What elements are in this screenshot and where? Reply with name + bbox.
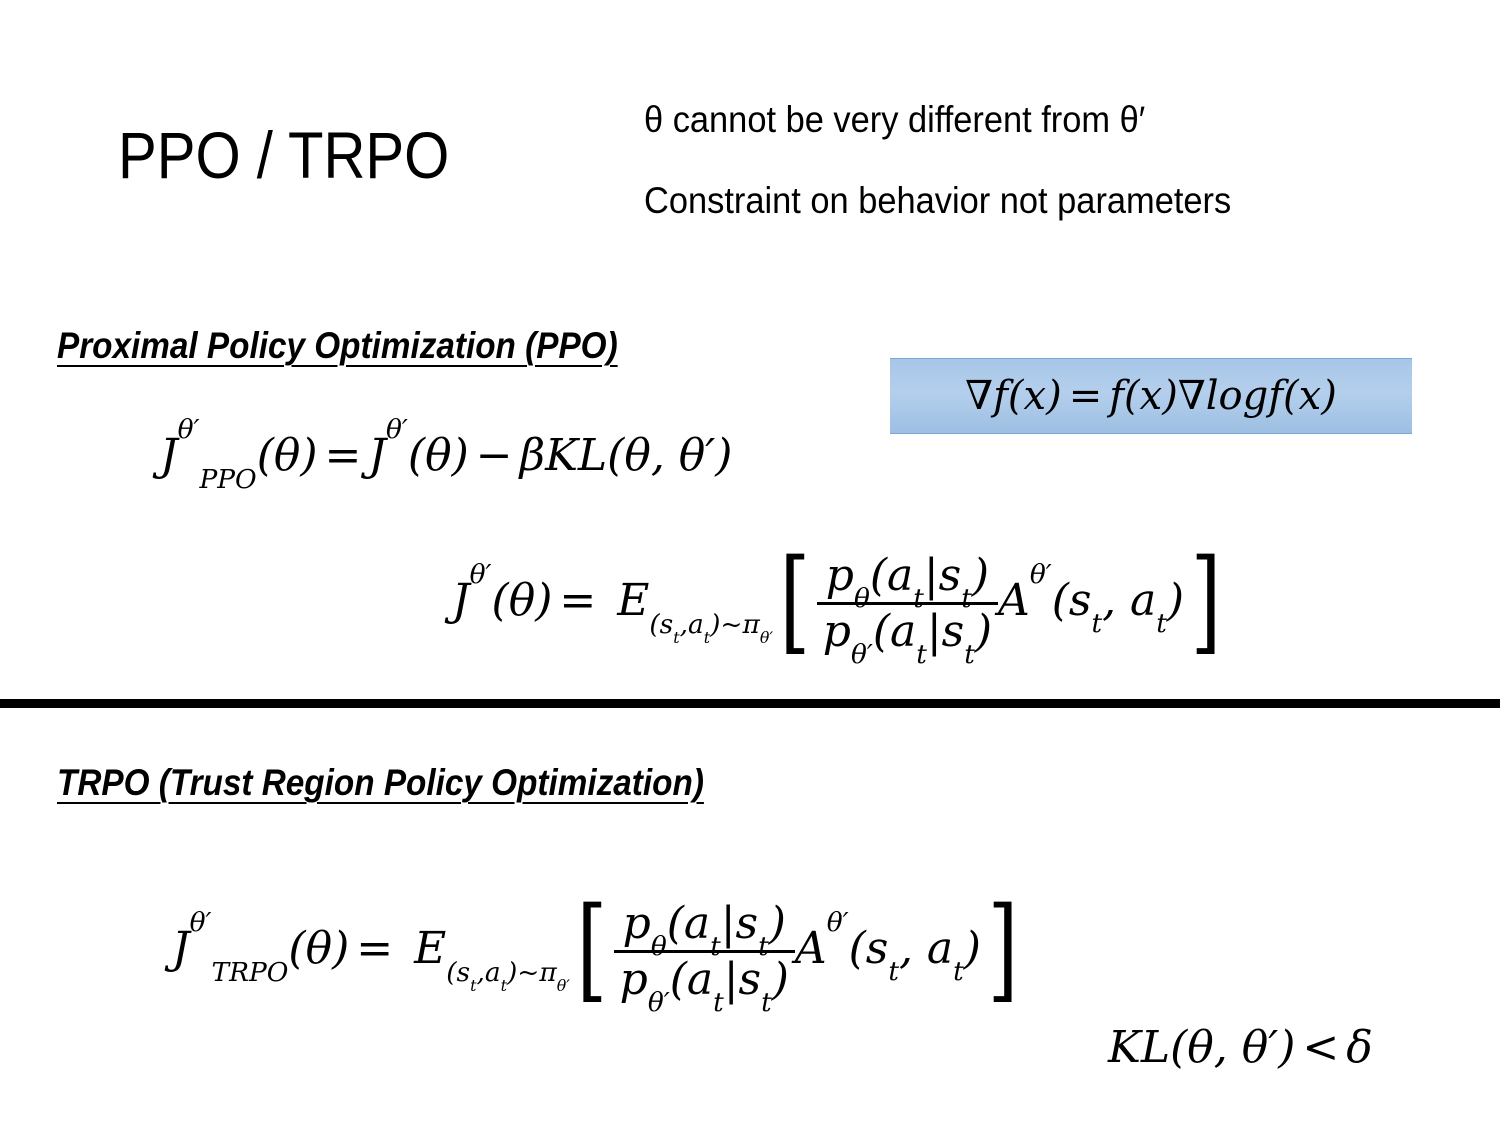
eq-jtheta-equals: =: [552, 575, 603, 626]
eq-jtheta-E-sub-s: s: [660, 609, 674, 640]
eq-ppo-J-subscript: PPO: [200, 464, 257, 495]
eq-ppo-equals: =: [318, 430, 369, 481]
eq-jtheta-E-sub-open: (: [649, 609, 659, 640]
eq-jtheta-A-close: ): [1167, 575, 1184, 626]
eq-jtheta-den-bar: |s: [927, 606, 964, 657]
eq-trpo-importance-ratio: pθ(at|st)pθ′(at|st): [614, 900, 795, 1003]
eq-trpo-num-p-subscript: θ: [651, 931, 667, 962]
equation-ppo-objective: Jθ′PPO(θ)=Jθ′(θ)−βKL(θ, θ′): [160, 430, 732, 481]
eq-jtheta-num-p-subscript: θ: [854, 583, 870, 614]
eq-trpo-E-sub-a: a: [485, 957, 501, 988]
eq-jtheta-num-a-t: t: [913, 583, 924, 614]
eq-trpo-den-p: p: [620, 954, 648, 1005]
highlight-box-gradient-log-identity: ∇f(x)=f(x)∇logf(x): [890, 358, 1412, 434]
eq-jtheta-pi: π: [743, 609, 760, 640]
eq-jtheta-den-close: ): [975, 606, 992, 657]
eq-trpo-num-bar: |s: [721, 898, 758, 949]
eq-jtheta-den-p-subscript: θ′: [851, 639, 873, 670]
eq-ppo-J-superscript: θ′: [178, 414, 200, 445]
eq-trpo-E-sub-s: s: [457, 957, 471, 988]
eq-trpo-A-comma: , a: [899, 923, 953, 974]
eq-ppo-kl: KL: [545, 430, 607, 481]
header-note-theta-constraint: θ cannot be very different from θ′: [644, 101, 1388, 138]
eq-trpo-E: E: [414, 923, 446, 974]
eq-trpo-A: A: [795, 923, 827, 974]
eq-trpo-den-p-subscript: θ′: [648, 987, 670, 1018]
eq-ppo-kl-arg: (θ, θ′): [607, 430, 732, 481]
eq-trpo-pi: π: [539, 957, 556, 988]
eq-trpo-A-superscript: θ′: [827, 907, 849, 938]
eq-trpo-J-subscript: TRPO: [212, 957, 289, 988]
equation-gradient-log-identity: ∇f(x)=f(x)∇logf(x): [965, 373, 1337, 419]
header-note-behavior-constraint: Constraint on behavior not parameters: [644, 182, 1388, 219]
identity-nabla-2: ∇: [1178, 373, 1206, 419]
eq-ppo-J: J: [160, 430, 178, 481]
eq-jtheta-den-a-t: t: [916, 639, 927, 670]
eq-trpo-bracket-open: [: [576, 902, 607, 997]
section-heading-trpo: TRPO (Trust Region Policy Optimization): [57, 762, 704, 804]
eq-jtheta-num-p: p: [826, 550, 854, 601]
eq-trpo-E-sub-comma: ,: [476, 957, 484, 988]
eq-jtheta-E-sub-comma: ,: [680, 609, 688, 640]
eq-kl-delta: δ: [1346, 1022, 1373, 1073]
eq-ppo-J-arg: (θ): [257, 430, 318, 481]
page-title: PPO / TRPO: [118, 122, 449, 188]
eq-trpo-den-s-t: t: [761, 987, 772, 1018]
section-heading-ppo: Proximal Policy Optimization (PPO): [57, 325, 618, 367]
eq-trpo-E-sub-a-t: t: [501, 976, 507, 995]
eq-jtheta-num-arg: (a: [870, 550, 913, 601]
eq-trpo-num-s-t: t: [758, 931, 769, 962]
eq-trpo-den-arg: (a: [670, 954, 713, 1005]
eq-trpo-tilde: ~: [517, 957, 539, 988]
eq-ppo-rhs-J: J: [368, 430, 386, 481]
equation-trpo-objective: Jθ′TRPO(θ)= E(st,at)~πθ′[pθ(at|st)pθ′(at…: [172, 900, 1025, 1003]
eq-trpo-J-superscript: θ′: [190, 907, 212, 938]
identity-log: log: [1206, 373, 1268, 419]
identity-equals: =: [1062, 373, 1110, 419]
eq-trpo-E-sub-close: ): [507, 957, 517, 988]
identity-arg-1: (x): [1008, 373, 1062, 419]
eq-jtheta-E-subscript: (st,at)~πθ′: [649, 609, 773, 640]
eq-trpo-num-a-t: t: [710, 931, 721, 962]
eq-jtheta-pi-subscript: θ′: [760, 628, 773, 647]
eq-trpo-den-bar: |s: [724, 954, 761, 1005]
eq-trpo-bracket-close: ]: [988, 902, 1019, 997]
eq-trpo-A-a-t: t: [953, 956, 964, 987]
eq-trpo-pi-subscript: θ′: [557, 976, 570, 995]
eq-jtheta-E-sub-s-t: t: [673, 628, 679, 647]
eq-kl-arg: (θ, θ′): [1170, 1022, 1295, 1073]
eq-jtheta-J: J: [452, 575, 470, 626]
eq-jtheta-E: E: [617, 575, 649, 626]
eq-trpo-den-close: ): [772, 954, 789, 1005]
eq-trpo-J-arg: (θ): [288, 923, 349, 974]
eq-jtheta-tilde: ~: [720, 609, 742, 640]
eq-trpo-den-a-t: t: [713, 987, 724, 1018]
eq-jtheta-E-sub-close: ): [710, 609, 720, 640]
eq-jtheta-J-arg: (θ): [492, 575, 553, 626]
identity-f-2: f: [1109, 373, 1124, 419]
eq-jtheta-num-close: ): [972, 550, 989, 601]
eq-jtheta-A-superscript: θ′: [1030, 559, 1052, 590]
eq-trpo-num-arg: (a: [667, 898, 710, 949]
eq-jtheta-bracket-close: ]: [1191, 554, 1222, 649]
eq-jtheta-den-arg: (a: [873, 606, 916, 657]
eq-jtheta-bracket-open: [: [780, 554, 811, 649]
eq-jtheta-num-s-t: t: [961, 583, 972, 614]
header-notes-group: θ cannot be very different from θ′ Const…: [644, 101, 1444, 219]
identity-f-1: f: [993, 373, 1008, 419]
eq-jtheta-J-superscript: θ′: [470, 559, 492, 590]
eq-ppo-rhs-J-arg: (θ): [408, 430, 469, 481]
eq-trpo-A-arg-open: (s: [849, 923, 889, 974]
eq-jtheta-A: A: [998, 575, 1030, 626]
eq-ppo-minus: −: [469, 430, 520, 481]
eq-jtheta-importance-ratio: pθ(at|st)pθ′(at|st): [817, 552, 998, 655]
equation-kl-constraint: KL(θ, θ′)<δ: [1108, 1022, 1373, 1073]
eq-jtheta-A-a-t: t: [1156, 608, 1167, 639]
eq-jtheta-ratio-numerator: pθ(at|st): [817, 552, 998, 602]
identity-arg-3: (x): [1283, 373, 1337, 419]
eq-jtheta-A-arg-open: (s: [1052, 575, 1092, 626]
identity-f-3: f: [1268, 373, 1283, 419]
eq-jtheta-A-comma: , a: [1102, 575, 1156, 626]
eq-trpo-E-subscript: (st,at)~πθ′: [446, 957, 570, 988]
eq-trpo-ratio-numerator: pθ(at|st): [614, 900, 795, 950]
eq-ppo-rhs-J-superscript: θ′: [386, 414, 408, 445]
section-divider: [0, 699, 1500, 708]
eq-jtheta-num-bar: |s: [924, 550, 961, 601]
eq-kl-label: KL: [1108, 1022, 1170, 1073]
eq-trpo-equals: =: [349, 923, 400, 974]
eq-jtheta-den-s-t: t: [964, 639, 975, 670]
identity-arg-2: (x): [1124, 373, 1178, 419]
eq-trpo-num-close: ): [769, 898, 786, 949]
identity-nabla-1: ∇: [965, 373, 993, 419]
eq-ppo-beta: β: [520, 430, 545, 481]
eq-trpo-E-sub-s-t: t: [470, 976, 476, 995]
eq-trpo-J: J: [172, 923, 190, 974]
eq-trpo-E-sub-open: (: [446, 957, 456, 988]
eq-jtheta-den-p: p: [823, 606, 851, 657]
eq-jtheta-E-sub-a-t: t: [704, 628, 710, 647]
eq-kl-less-than: <: [1295, 1022, 1346, 1073]
eq-trpo-A-s-t: t: [888, 956, 899, 987]
equation-jtheta-expectation: Jθ′(θ)= E(st,at)~πθ′[pθ(at|st)pθ′(at|st)…: [452, 552, 1228, 655]
eq-jtheta-A-s-t: t: [1091, 608, 1102, 639]
eq-jtheta-E-sub-a: a: [688, 609, 704, 640]
eq-trpo-num-p: p: [623, 898, 651, 949]
eq-trpo-A-close: ): [964, 923, 981, 974]
